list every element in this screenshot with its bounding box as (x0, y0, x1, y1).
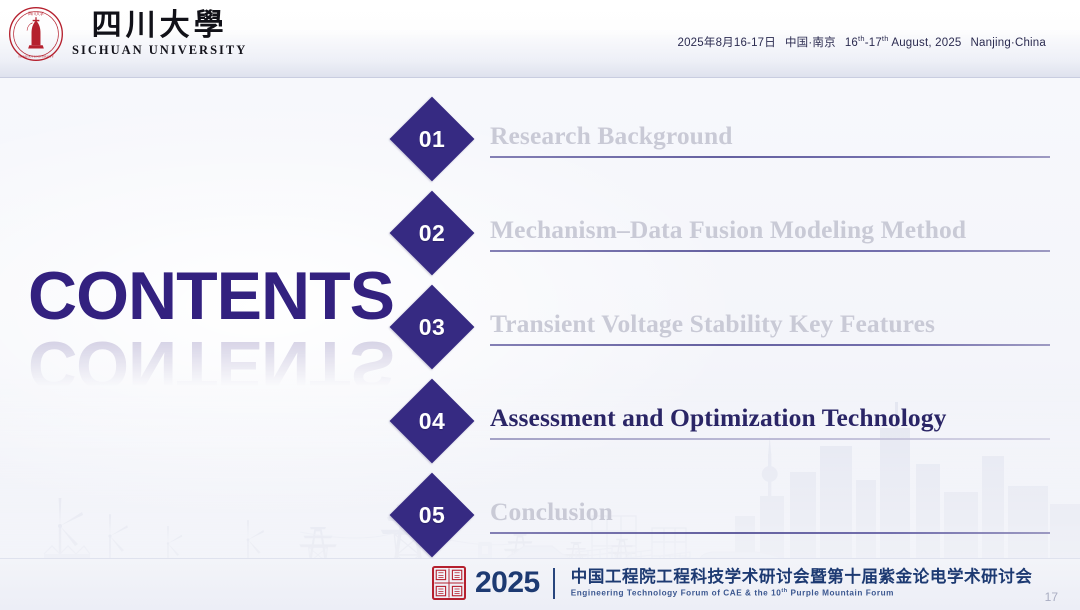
date-en-sup2: th (882, 34, 889, 43)
agenda-text-04: Assessment and Optimization Technology (490, 402, 1056, 440)
agenda-item-01[interactable]: 01 Research Background (396, 92, 1056, 186)
agenda-underline-05 (490, 532, 1050, 534)
conference-title-cn: 中国工程院工程科技学术研讨会暨第十届紫金论电学术研讨会 (571, 568, 1033, 586)
agenda-label-03: Transient Voltage Stability Key Features (490, 308, 1050, 339)
page-number: 17 (1045, 590, 1058, 604)
agenda-underline-04 (490, 438, 1050, 440)
agenda-text-01: Research Background (490, 120, 1056, 158)
agenda-number-badge-01: 01 (390, 97, 475, 182)
conference-title-en-a: Engineering Technology Forum of CAE & th… (571, 589, 782, 598)
conference-date-location: 2025年8月16-17日中国·南京16th-17th August, 2025… (677, 34, 1046, 50)
university-name-cn: 四川大學 (92, 10, 228, 42)
agenda-item-05[interactable]: 05 Conclusion (396, 468, 1056, 562)
agenda-label-01: Research Background (490, 120, 1050, 151)
agenda-item-03[interactable]: 03 Transient Voltage Stability Key Featu… (396, 280, 1056, 374)
university-logo: 四川大学 SICHUAN UNIVERSITY 四川大學 SICHUAN UNI… (8, 6, 247, 62)
agenda-text-02: Mechanism–Data Fusion Modeling Method (490, 214, 1056, 252)
agenda-number-badge-04: 04 (390, 379, 475, 464)
agenda-number-02: 02 (402, 203, 462, 263)
agenda-number-05: 05 (402, 485, 462, 545)
agenda-underline-02 (490, 250, 1050, 252)
agenda-number-04: 04 (402, 391, 462, 451)
date-cn: 2025年8月16-17日 (677, 37, 776, 49)
agenda-number-badge-03: 03 (390, 285, 475, 370)
page-title: CONTENTS (28, 262, 408, 330)
agenda-underline-03 (490, 344, 1050, 346)
agenda-underline-01 (490, 156, 1050, 158)
page-footer: 2025 中国工程院工程科技学术研讨会暨第十届紫金论电学术研讨会 Enginee… (0, 558, 1080, 610)
conference-branding: 2025 中国工程院工程科技学术研讨会暨第十届紫金论电学术研讨会 Enginee… (432, 566, 1032, 600)
agenda-number-03: 03 (402, 297, 462, 357)
date-en-rest: August, 2025 (889, 37, 962, 49)
location-cn: 中国·南京 (785, 37, 836, 49)
page-title-reflection: CONTENTS (28, 331, 408, 399)
agenda-label-05: Conclusion (490, 496, 1050, 527)
conference-title-en: Engineering Technology Forum of CAE & th… (571, 588, 1033, 598)
agenda-number-badge-05: 05 (390, 473, 475, 558)
agenda-label-02: Mechanism–Data Fusion Modeling Method (490, 214, 1050, 245)
agenda-number-badge-02: 02 (390, 191, 475, 276)
date-en-day1: 16 (845, 37, 858, 49)
svg-text:SICHUAN UNIVERSITY: SICHUAN UNIVERSITY (18, 55, 55, 59)
footer-divider (553, 568, 555, 599)
university-name-en: SICHUAN UNIVERSITY (72, 44, 247, 58)
agenda-list: 01 Research Background 02 Mechanism–Data… (396, 92, 1056, 562)
location-en: Nanjing·China (971, 37, 1046, 49)
slide-root: 四川大学 SICHUAN UNIVERSITY 四川大學 SICHUAN UNI… (0, 0, 1080, 610)
red-seal-stamp-icon (432, 566, 466, 600)
agenda-text-03: Transient Voltage Stability Key Features (490, 308, 1056, 346)
date-en-sup1: th (858, 34, 865, 43)
page-header: 四川大学 SICHUAN UNIVERSITY 四川大學 SICHUAN UNI… (0, 0, 1080, 78)
agenda-text-05: Conclusion (490, 496, 1056, 534)
contents-title-block: CONTENTS CONTENTS (28, 262, 408, 392)
conference-year: 2025 (475, 568, 540, 598)
agenda-item-02[interactable]: 02 Mechanism–Data Fusion Modeling Method (396, 186, 1056, 280)
conference-title-en-b: Purple Mountain Forum (788, 589, 894, 598)
footer-title-group: 中国工程院工程科技学术研讨会暨第十届紫金论电学术研讨会 Engineering … (571, 568, 1033, 598)
agenda-item-04[interactable]: 04 Assessment and Optimization Technolog… (396, 374, 1056, 468)
sichuan-university-seal-icon: 四川大学 SICHUAN UNIVERSITY (8, 6, 64, 62)
date-en-day2: -17 (865, 37, 882, 49)
agenda-number-01: 01 (402, 109, 462, 169)
agenda-label-04: Assessment and Optimization Technology (490, 402, 1050, 433)
svg-text:四川大学: 四川大学 (28, 11, 44, 16)
